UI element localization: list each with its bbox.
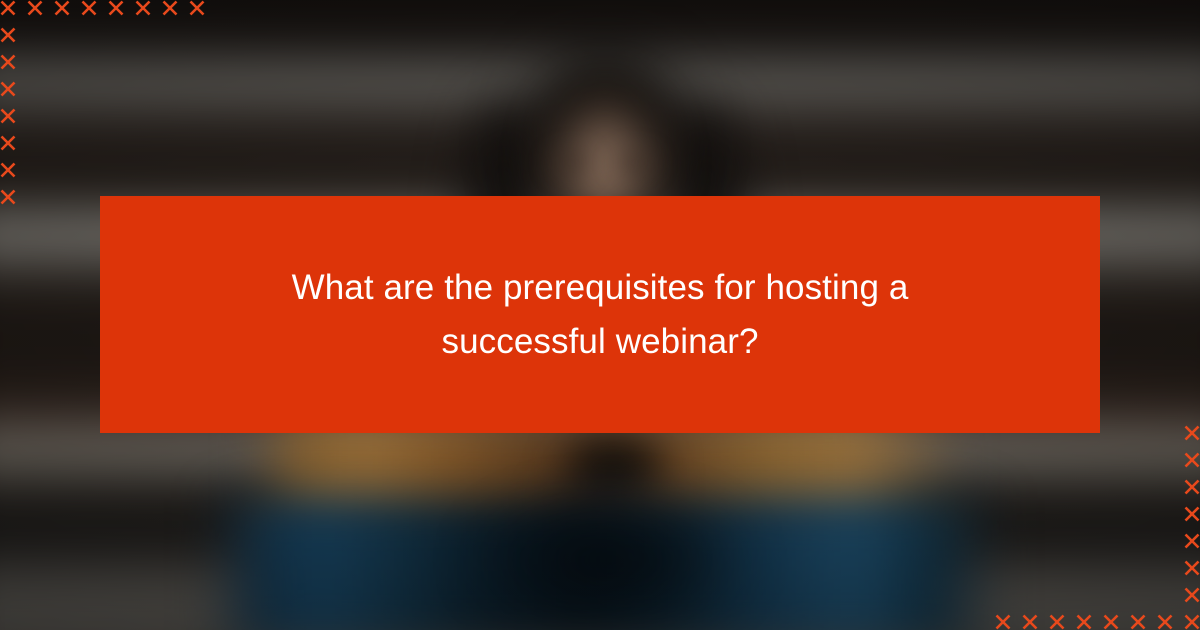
social-share-card: What are the prerequisites for hosting a…: [0, 0, 1200, 630]
page-title: What are the prerequisites for hosting a…: [250, 261, 950, 369]
question-banner: What are the prerequisites for hosting a…: [100, 196, 1100, 433]
